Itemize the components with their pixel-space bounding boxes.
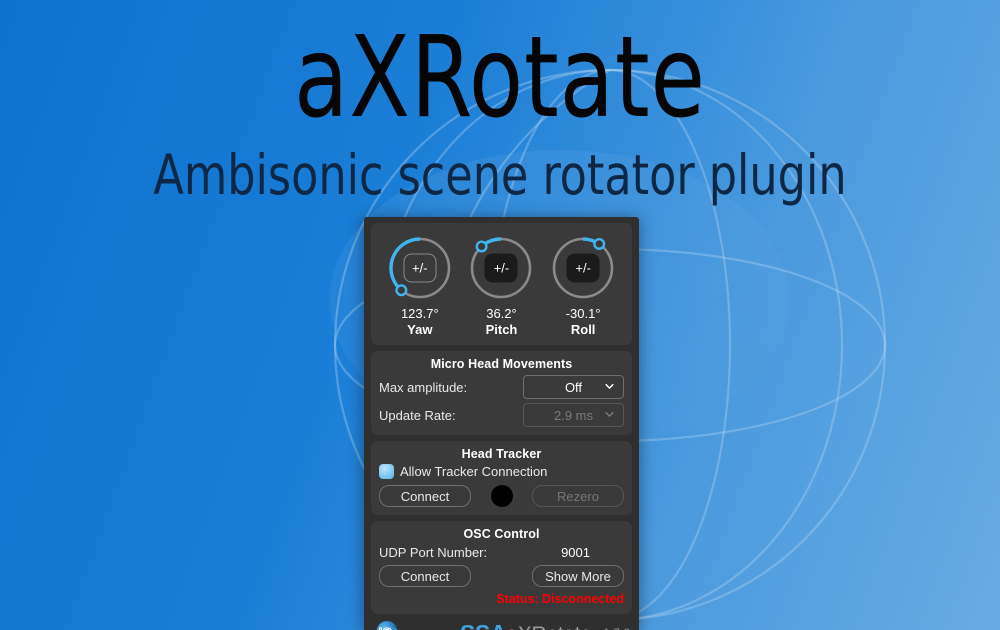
plugin-body: +/-123.7°Yaw+/-36.2°Pitch+/--30.1°Roll M… (364, 217, 639, 614)
head-tracker-group: Head Tracker Allow Tracker Connection Co… (371, 441, 632, 515)
osc-connect-button[interactable]: Connect (379, 565, 471, 587)
knob-yaw: +/-123.7°Yaw (380, 231, 460, 337)
micro-head-movements-group: Micro Head Movements Max amplitude: Off … (371, 351, 632, 435)
knob-label-roll: Roll (571, 322, 596, 337)
update-rate-row: Update Rate: 2.9 ms (379, 403, 624, 427)
allow-tracker-connection-label: Allow Tracker Connection (400, 464, 547, 479)
page-subtitle: Ambisonic scene rotator plugin (50, 148, 950, 203)
micro-head-movements-title: Micro Head Movements (379, 357, 624, 371)
knob-reset-button-pitch[interactable]: +/- (485, 254, 518, 283)
version-label: 1.7.2 (603, 626, 630, 630)
head-tracker-title: Head Tracker (379, 447, 624, 461)
knob-pitch: +/-36.2°Pitch (461, 231, 541, 337)
brand-lockup: SSA aXRotate (460, 620, 592, 630)
io-sphere-logo-icon: IO (372, 619, 400, 630)
brand-secondary: aXRotate (506, 623, 591, 630)
knob-roll: +/--30.1°Roll (543, 231, 623, 337)
max-amplitude-select[interactable]: Off (523, 375, 624, 399)
tracker-connect-button[interactable]: Connect (379, 485, 471, 507)
allow-tracker-connection-row[interactable]: Allow Tracker Connection (379, 464, 624, 479)
tracker-buttons-row: Connect Rezero (379, 485, 624, 507)
tracker-status-led (491, 485, 513, 507)
update-rate-select[interactable]: 2.9 ms (523, 403, 624, 427)
knob-dial-pitch[interactable]: +/- (464, 231, 538, 305)
chevron-down-icon (605, 382, 614, 391)
knob-label-pitch: Pitch (486, 322, 518, 337)
udp-port-row: UDP Port Number: 9001 (379, 545, 624, 560)
orientation-group: +/-123.7°Yaw+/-36.2°Pitch+/--30.1°Roll (371, 223, 632, 345)
osc-show-more-button[interactable]: Show More (532, 565, 624, 587)
max-amplitude-value: Off (565, 380, 582, 395)
knob-row: +/-123.7°Yaw+/-36.2°Pitch+/--30.1°Roll (379, 229, 624, 337)
osc-status-badge: Status: Disconnected (379, 592, 624, 606)
osc-control-group: OSC Control UDP Port Number: 9001 Connec… (371, 521, 632, 614)
plugin-window: +/-123.7°Yaw+/-36.2°Pitch+/--30.1°Roll M… (364, 217, 639, 630)
app-window: aXRotate Ambisonic scene rotator plugin … (0, 0, 1000, 630)
knob-value-yaw: 123.7° (401, 306, 439, 321)
max-amplitude-label: Max amplitude: (379, 380, 467, 395)
knob-dial-roll[interactable]: +/- (546, 231, 620, 305)
hero-block: aXRotate Ambisonic scene rotator plugin (0, 22, 1000, 203)
udp-port-value[interactable]: 9001 (561, 545, 590, 560)
udp-port-label: UDP Port Number: (379, 545, 487, 560)
knob-dial-yaw[interactable]: +/- (383, 231, 457, 305)
knob-value-roll: -30.1° (566, 306, 601, 321)
knob-reset-button-roll[interactable]: +/- (567, 254, 600, 283)
chevron-down-icon (605, 410, 614, 419)
update-rate-value: 2.9 ms (554, 408, 593, 423)
osc-buttons-row: Connect Show More (379, 565, 624, 587)
osc-control-title: OSC Control (379, 527, 624, 541)
update-rate-label: Update Rate: (379, 408, 456, 423)
knob-label-yaw: Yaw (407, 322, 432, 337)
max-amplitude-row: Max amplitude: Off (379, 375, 624, 399)
knob-reset-button-yaw[interactable]: +/- (403, 254, 436, 283)
page-title: aXRotate (60, 22, 940, 134)
knob-value-pitch: 36.2° (486, 306, 517, 321)
svg-text:IO: IO (379, 625, 393, 630)
plugin-footer: IO SSA aXRotate 1.7.2 (364, 614, 639, 630)
brand-primary: SSA (460, 620, 506, 630)
allow-tracker-connection-checkbox[interactable] (379, 464, 394, 479)
rezero-button[interactable]: Rezero (532, 485, 624, 507)
